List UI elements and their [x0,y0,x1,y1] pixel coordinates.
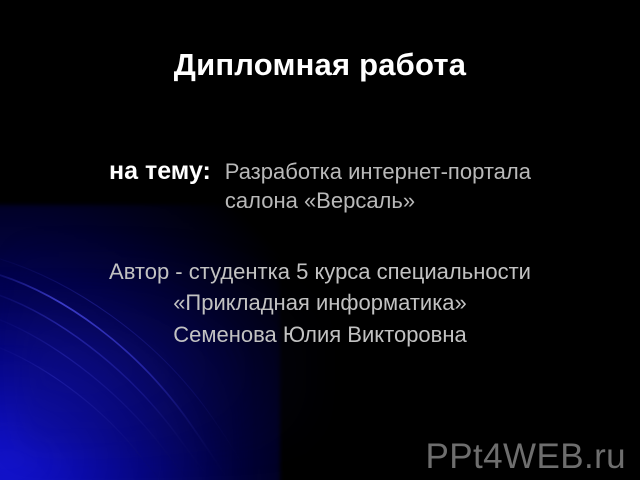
author-block: Автор - студентка 5 курса специальности … [0,256,640,350]
subject-block: на тему: Разработка интернет-портала сал… [0,155,640,215]
author-line-2: «Прикладная информатика» [0,287,640,318]
subject-text-line-2: салона «Версаль» [0,187,640,215]
watermark: PPt4WEB.ru [426,439,626,474]
subject-line-1: на тему: Разработка интернет-портала [0,155,640,187]
slide-title: Дипломная работа [0,48,640,83]
presentation-slide: Дипломная работа на тему: Разработка инт… [0,0,640,480]
author-line-3: Семенова Юлия Викторовна [0,319,640,350]
subject-text-line-1: Разработка интернет-портала [225,159,531,184]
subject-label: на тему: [109,157,225,185]
author-line-1: Автор - студентка 5 курса специальности [0,256,640,287]
